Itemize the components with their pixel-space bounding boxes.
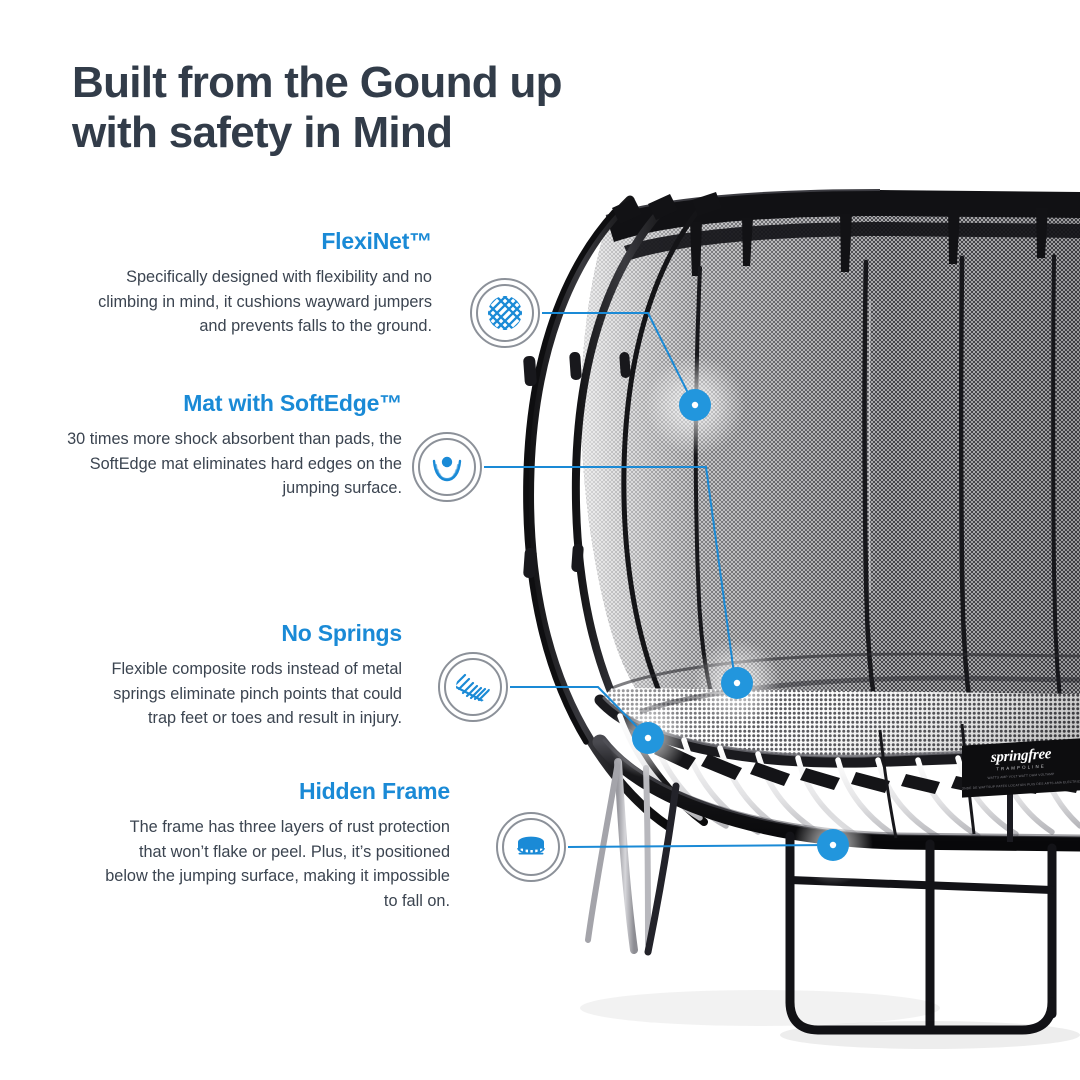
feature-block-hiddenframe: Hidden Frame The frame has three layers … xyxy=(100,778,450,914)
feature-icon-badge-nosprings xyxy=(438,652,508,722)
feature-icon-badge-hiddenframe xyxy=(496,812,566,882)
springfree-logo-placard: springfree TRAMPOLINE WATTS AMP VOLT WAT… xyxy=(962,738,1080,797)
feature-block-nosprings: No Springs Flexible composite rods inste… xyxy=(86,620,402,731)
placard-fineprint-line2: ONDE DE WATTSUP PATES LOCATION PUIS DES … xyxy=(962,779,1080,791)
frame-disc-icon xyxy=(507,823,555,871)
feature-icon-badge-flexinet xyxy=(470,278,540,348)
feature-title-softedge: Mat with SoftEdge™ xyxy=(30,390,402,418)
feature-title-flexinet: FlexiNet™ xyxy=(96,228,432,256)
feature-block-flexinet: FlexiNet™ Specifically designed with fle… xyxy=(96,228,432,339)
feature-body-nosprings: Flexible composite rods instead of metal… xyxy=(86,657,402,732)
page-title: Built from the Gound up with safety in M… xyxy=(72,58,692,158)
net-mesh-icon xyxy=(481,289,529,337)
feature-body-flexinet: Specifically designed with flexibility a… xyxy=(96,265,432,340)
page-title-line-1: Built from the Gound up xyxy=(72,58,562,107)
feature-title-hiddenframe: Hidden Frame xyxy=(100,778,450,806)
trampoline-product-image xyxy=(0,0,1080,1080)
bounce-ripple-icon xyxy=(423,443,471,491)
infographic-canvas: springfree TRAMPOLINE WATTS AMP VOLT WAT… xyxy=(0,0,1080,1080)
composite-rods-icon xyxy=(449,663,497,711)
feature-body-softedge: 30 times more shock absorbent than pads,… xyxy=(30,427,402,502)
page-title-line-2: with safety in Mind xyxy=(72,108,692,158)
feature-block-softedge: Mat with SoftEdge™ 30 times more shock a… xyxy=(30,390,402,501)
feature-body-hiddenframe: The frame has three layers of rust prote… xyxy=(100,815,450,915)
feature-icon-badge-softedge xyxy=(412,432,482,502)
placard-fineprint-line1: WATTS AMP VOLT WATT OHM VOLTAMP xyxy=(988,772,1055,781)
feature-title-nosprings: No Springs xyxy=(86,620,402,648)
